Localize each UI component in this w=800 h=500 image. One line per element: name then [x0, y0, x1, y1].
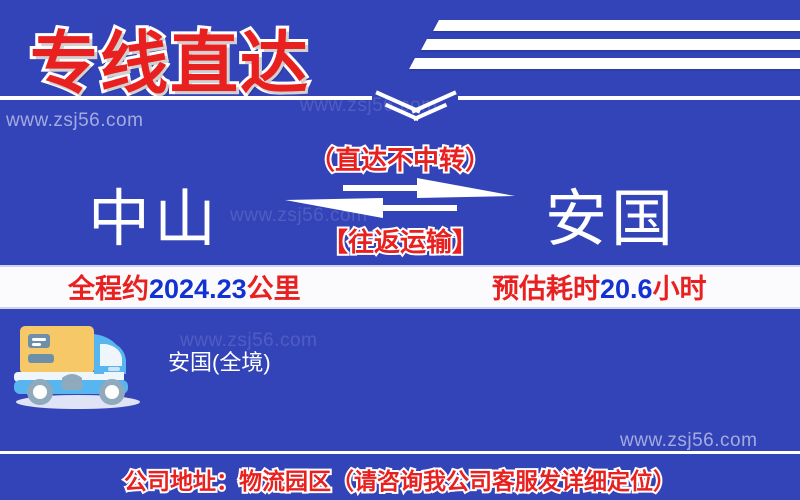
- company-address-note: 公司地址：物流园区（请咨询我公司客服发详细定位）: [0, 462, 800, 496]
- distance-value: 2024.23: [149, 274, 247, 304]
- double-arrow-icon: [283, 176, 517, 220]
- direct-route-caption: （直达不中转）: [0, 140, 800, 177]
- distance-prefix: 全程约: [68, 274, 149, 304]
- decor-stripe-2: [421, 39, 800, 50]
- duration-value: 20.6: [600, 274, 653, 304]
- delivery-truck-icon: [8, 312, 158, 412]
- decor-stripe-3: [409, 58, 800, 69]
- freight-route-poster: 专线直达 www.zsj56.com www.zsj56.com www.zsj…: [0, 0, 800, 500]
- duration-prefix: 预估耗时: [492, 274, 600, 304]
- poster-headline: 专线直达: [30, 8, 310, 107]
- total-distance: 全程约2024.23公里: [68, 267, 301, 311]
- round-trip-caption: 【往返运输】: [0, 222, 800, 259]
- decor-stripe-1: [433, 20, 800, 31]
- stats-band: 全程约2024.23公里 预估耗时20.6小时: [0, 265, 800, 309]
- coverage-area-label: 安国(全境): [168, 345, 271, 377]
- estimated-duration: 预估耗时20.6小时: [492, 267, 707, 311]
- watermark: www.zsj56.com: [6, 110, 143, 132]
- duration-unit: 小时: [653, 274, 707, 304]
- divider-line-right: [458, 96, 800, 100]
- footer-divider: [0, 451, 800, 454]
- divider-line-left: [0, 96, 372, 100]
- watermark: www.zsj56.com: [620, 430, 757, 452]
- distance-unit: 公里: [247, 274, 301, 304]
